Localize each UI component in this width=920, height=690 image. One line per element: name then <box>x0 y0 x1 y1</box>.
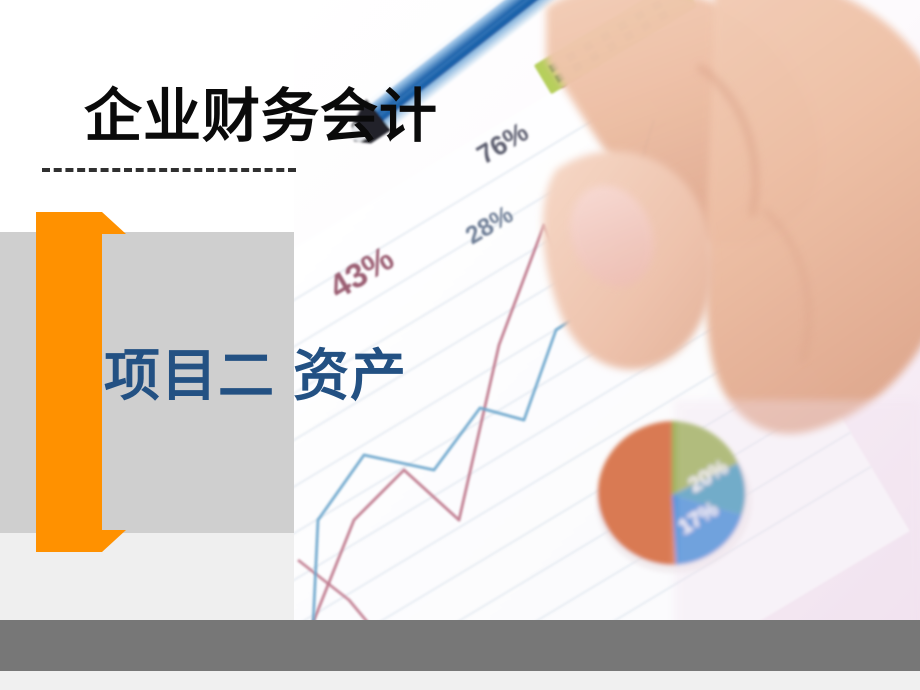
project-title-label: 项目二 <box>104 344 275 407</box>
footer-light-strip <box>0 671 920 690</box>
footer-dark-band <box>0 620 920 671</box>
course-title: 企业财务会计 <box>84 88 438 146</box>
project-title: 项目二资产 <box>104 348 407 404</box>
slide-canvas: 43% 28% 76% 62% <box>0 0 920 690</box>
project-title-name: 资产 <box>293 344 407 407</box>
dashed-divider <box>42 168 296 172</box>
